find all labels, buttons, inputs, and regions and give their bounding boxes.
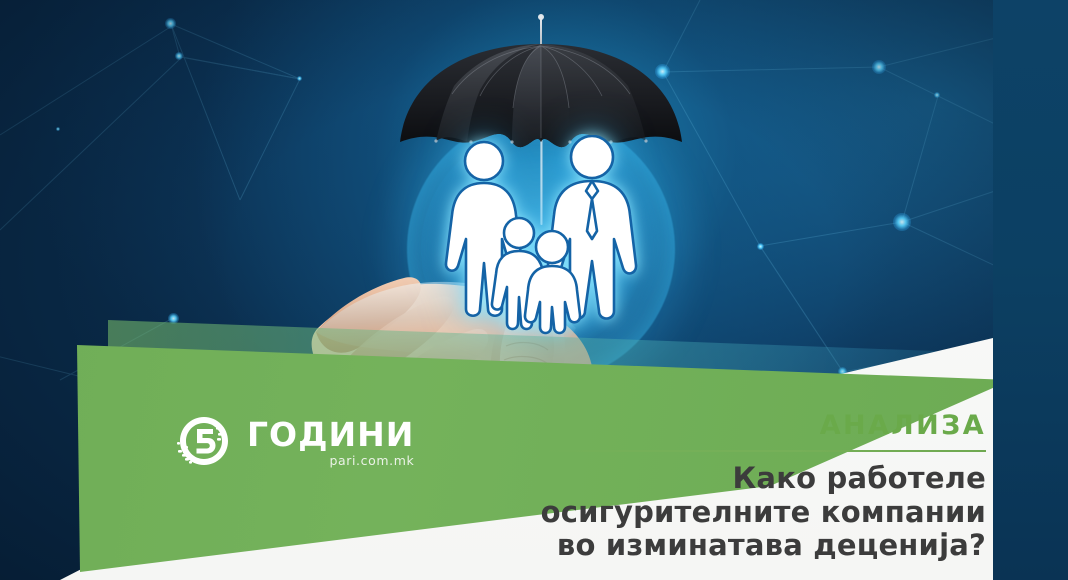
headline-line-3: во изминатава деценија?	[516, 529, 986, 563]
article-text-block: АНАЛИЗА Како работеле осигурителните ком…	[516, 412, 986, 563]
logo-subtitle-domain: pari.com.mk	[329, 455, 414, 468]
brand-logo[interactable]: ГОДИНИ pari.com.mk	[175, 414, 414, 472]
article-headline: Како работеле осигурителните компании во…	[516, 462, 986, 563]
family-silhouettes-icon	[440, 135, 640, 340]
logo-word-godini: ГОДИНИ	[247, 418, 414, 451]
five-years-circuit-badge-icon	[175, 414, 233, 472]
kicker-divider	[541, 450, 986, 452]
headline-line-1: Како работеле	[516, 462, 986, 496]
right-edge-strip	[993, 0, 1068, 580]
logo-wordmark: ГОДИНИ pari.com.mk	[247, 418, 414, 468]
banner-canvas: ГОДИНИ pari.com.mk АНАЛИЗА Како работеле…	[0, 0, 1068, 580]
umbrella-canopy	[396, 42, 686, 150]
article-kicker: АНАЛИЗА	[516, 412, 986, 439]
headline-line-2: осигурителните компании	[516, 496, 986, 530]
